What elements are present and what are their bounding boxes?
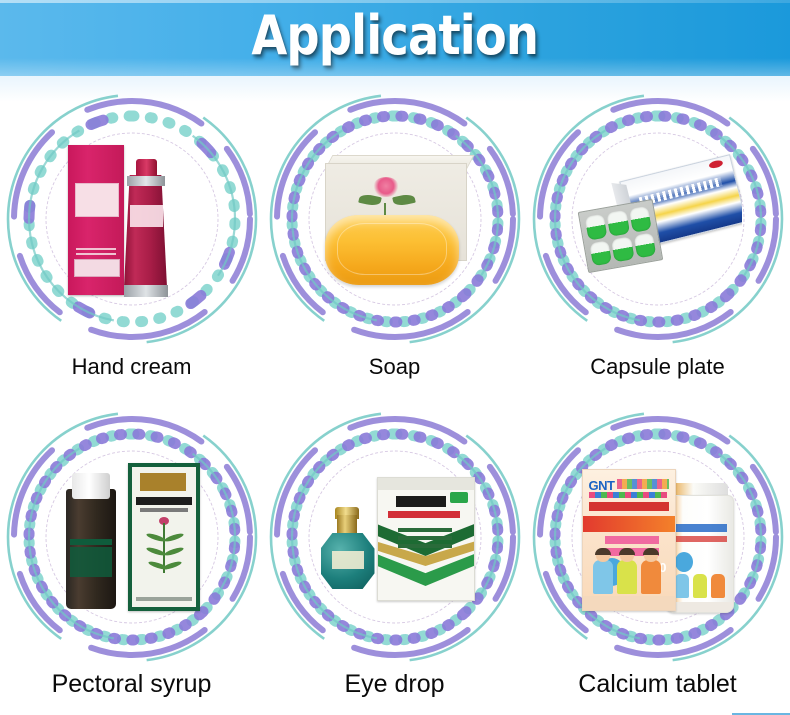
decorative-circle-frame: GNT 2+0 [527, 406, 789, 668]
carton-text-line [398, 528, 452, 532]
carton-brand-plate [74, 259, 120, 277]
blister-pack [577, 199, 663, 273]
carton-subtitle-block [140, 508, 188, 512]
bottle-label-top [70, 539, 112, 545]
eye-drop-artwork [311, 451, 479, 623]
child-figure-icon [641, 560, 661, 594]
capsule [633, 232, 656, 259]
carton-subtitle-block [589, 492, 667, 498]
carton-promo-band: 2+0 [583, 516, 675, 532]
calcium-bottle [666, 495, 734, 613]
hand-cream-artwork [48, 133, 216, 305]
capsule-pack-group [574, 155, 742, 287]
soap-bar [325, 215, 459, 285]
product-photo-hand-cream [48, 133, 216, 305]
product-photo-pectoral-syrup [48, 451, 216, 623]
product-photo-eye-drop [311, 451, 479, 623]
application-item-eye-drop[interactable]: Eye drop [263, 404, 526, 714]
pectoral-syrup-artwork [48, 451, 216, 623]
bottle-footer-band [667, 602, 733, 612]
hand-cream-carton [68, 145, 124, 295]
carton-header-band [140, 473, 186, 491]
hand-cream-tube [124, 175, 168, 297]
bottle-brand-block [671, 524, 727, 532]
application-item-hand-cream[interactable]: Hand cream [0, 86, 263, 404]
decorative-circle-frame [527, 88, 789, 350]
child-figure-icon [711, 574, 725, 598]
carton-subtitle-block [388, 511, 460, 518]
capsule [606, 210, 629, 236]
brand-rainbow-graphic [617, 479, 669, 489]
product-photo-calcium-tablet: GNT 2+0 [574, 451, 742, 623]
item-label-pectoral-syrup: Pectoral syrup [52, 672, 212, 697]
carton-label [75, 183, 119, 217]
carton-top-band [378, 478, 474, 490]
carton-footer-text [136, 597, 192, 601]
child-hair [619, 548, 635, 555]
child-figure-icon [693, 574, 707, 598]
tube-crimp [124, 285, 168, 297]
carton-text-line [398, 536, 452, 540]
bottle-cap [72, 473, 110, 499]
bottle-subtitle-block [671, 536, 727, 542]
item-label-eye-drop: Eye drop [344, 672, 444, 697]
tube-shoulder [127, 176, 165, 186]
application-item-soap[interactable]: Soap [263, 86, 526, 404]
application-item-capsule-plate[interactable]: Capsule plate [526, 86, 789, 404]
calcium-tablet-artwork: GNT 2+0 [574, 451, 742, 623]
carton-brand-block [396, 496, 446, 507]
child-figure-icon [617, 560, 637, 594]
item-label-hand-cream: Hand cream [72, 356, 192, 378]
product-photo-capsule-plate [574, 133, 742, 305]
page-title: Application [252, 9, 539, 67]
carton-badge [450, 492, 468, 503]
bottle-label [70, 547, 112, 577]
capsule [584, 214, 607, 240]
decorative-circle-frame [1, 406, 263, 668]
flower-graphic-icon [373, 177, 399, 197]
brand-text-gnt: GNT [589, 478, 615, 493]
carton-footer-band [583, 596, 675, 610]
application-item-calcium-tablet[interactable]: GNT 2+0 [526, 404, 789, 714]
child-figure-icon [593, 560, 613, 594]
capsule [589, 240, 612, 266]
balloon-icon [675, 552, 693, 572]
carton-chinese-title-block [589, 502, 669, 511]
child-hair [595, 548, 611, 555]
capsule [611, 236, 634, 262]
carton-red-mark [708, 159, 723, 169]
capsule-plate-artwork [574, 133, 742, 305]
capsule [628, 206, 651, 233]
decorative-circle-frame [1, 88, 263, 350]
product-photo-soap [311, 133, 479, 305]
application-banner: Application [0, 0, 790, 76]
application-grid: Hand cream [0, 86, 790, 714]
carton-text-line [605, 536, 659, 544]
carton-text-line [76, 253, 116, 255]
item-label-calcium-tablet: Calcium tablet [578, 672, 736, 697]
decorative-circle-frame [264, 88, 526, 350]
flower-stem [384, 203, 386, 215]
soap-artwork [311, 133, 479, 305]
tube-label [130, 205, 163, 227]
child-figure-icon [675, 574, 689, 598]
calcium-carton: GNT 2+0 [582, 469, 676, 611]
child-hair [643, 548, 659, 555]
application-item-pectoral-syrup[interactable]: Pectoral syrup [0, 404, 263, 714]
decorative-circle-frame [264, 406, 526, 668]
carton-text-line [76, 248, 116, 250]
eye-drop-carton [377, 477, 475, 601]
bottle-label [332, 551, 364, 569]
item-label-capsule-plate: Capsule plate [590, 356, 725, 378]
item-label-soap: Soap [369, 356, 420, 378]
tube-cap [136, 159, 157, 176]
carton-text-line [398, 544, 452, 548]
carton-title-block [136, 497, 192, 505]
